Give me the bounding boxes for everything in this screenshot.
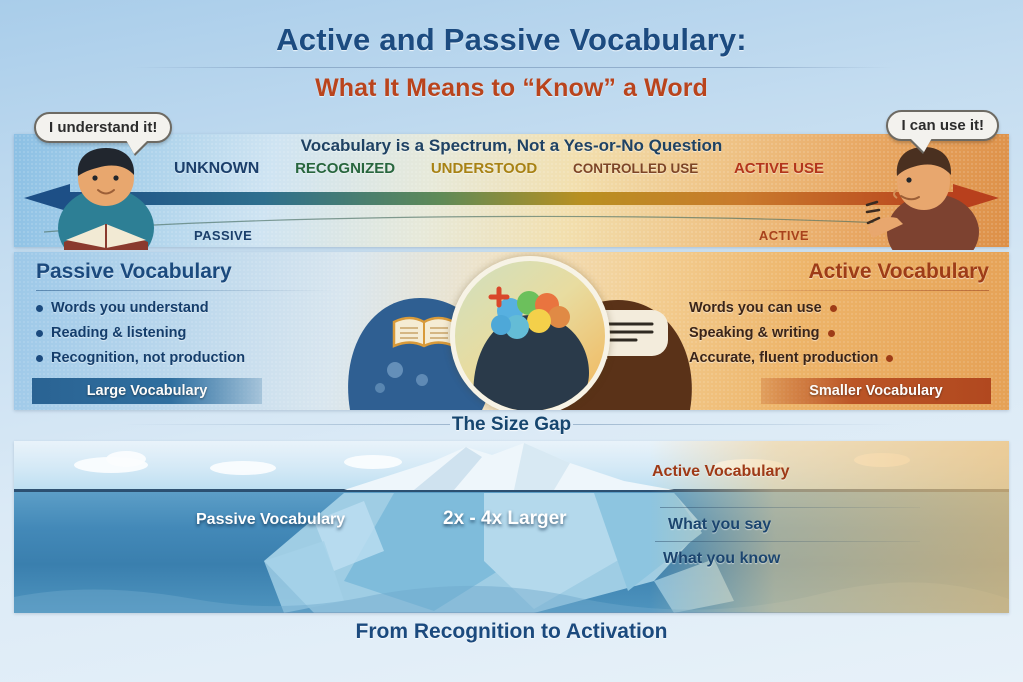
page-title: Active and Passive Vocabulary:	[0, 22, 1023, 58]
head-illustrations	[340, 252, 700, 410]
infographic-poster: Active and Passive Vocabulary: What It M…	[0, 0, 1023, 682]
passive-bullet-2: Reading & listening	[36, 325, 336, 341]
bullet-dot-icon	[36, 305, 43, 312]
bullet-dot-icon	[36, 330, 43, 337]
bullet-text: Speaking & writing	[689, 325, 820, 341]
bullet-text: Words you understand	[51, 300, 209, 316]
page-subtitle: What It Means to “Know” a Word	[0, 74, 1023, 103]
spectrum-stage-unknown: UNKNOWN	[174, 160, 259, 178]
bullet-text: Accurate, fluent production	[689, 350, 878, 366]
active-bullet-3: Accurate, fluent production	[689, 350, 989, 366]
comparison-band: Passive Vocabulary Words you understand …	[14, 252, 1009, 410]
spectrum-axis-label-passive: PASSIVE	[194, 228, 252, 243]
iceberg-label-ratio: 2x - 4x Larger	[443, 508, 567, 530]
size-gap-caption: The Size Gap	[0, 414, 1023, 436]
speech-bubble-left: I understand it!	[34, 112, 172, 143]
iceberg-label-line-say	[660, 507, 920, 508]
bullet-text: Reading & listening	[51, 325, 186, 341]
head-silhouette-with-colorful-brain-icon	[450, 256, 610, 410]
bullet-text: Recognition, not production	[51, 350, 245, 366]
spectrum-stage-understood: UNDERSTOOD	[431, 160, 537, 177]
spectrum-stage-recognized: RECOGNIZED	[295, 160, 395, 177]
bullet-text: Words you can use	[689, 300, 822, 316]
active-panel-heading: Active Vocabulary	[689, 260, 989, 284]
footer-divider	[90, 612, 933, 613]
iceberg-label-active-vocabulary: Active Vocabulary	[652, 463, 790, 481]
title-divider	[132, 67, 892, 68]
bullet-dot-icon	[886, 355, 893, 362]
active-panel-divider	[689, 290, 989, 291]
bullet-dot-icon	[830, 305, 837, 312]
passive-bullet-3: Recognition, not production	[36, 350, 336, 366]
spectrum-curve	[44, 212, 979, 234]
iceberg-label-what-you-know: What you know	[663, 550, 780, 568]
passive-panel-divider	[36, 290, 336, 291]
double-headed-arrow-icon	[24, 184, 999, 212]
spectrum-stage-controlled-use: CONTROLLED USE	[573, 161, 698, 176]
passive-ribbon: Large Vocabulary	[32, 378, 262, 404]
spectrum-stage-active-use: ACTIVE USE	[734, 160, 824, 177]
passive-panel-heading: Passive Vocabulary	[36, 260, 336, 284]
active-ribbon: Smaller Vocabulary	[761, 378, 991, 404]
size-gap-label: The Size Gap	[452, 414, 571, 435]
iceberg-label-what-you-say: What you say	[668, 516, 771, 534]
active-bullet-2: Speaking & writing	[689, 325, 989, 341]
size-gap-line-left	[120, 424, 450, 425]
active-bullet-1: Words you can use	[689, 300, 989, 316]
title-block: Active and Passive Vocabulary: What It M…	[0, 22, 1023, 103]
passive-bullet-1: Words you understand	[36, 300, 336, 316]
size-gap-line-right	[573, 424, 903, 425]
passive-vocabulary-panel: Passive Vocabulary Words you understand …	[36, 260, 336, 375]
iceberg-label-passive-vocabulary: Passive Vocabulary	[196, 511, 345, 529]
arrow-shaft	[68, 192, 955, 205]
speech-bubble-right: I can use it!	[886, 110, 999, 141]
active-vocabulary-panel: Active Vocabulary Words you can use Spea…	[689, 260, 989, 375]
bullet-dot-icon	[36, 355, 43, 362]
footer-caption: From Recognition to Activation	[0, 620, 1023, 644]
spectrum-stage-list: UNKNOWN RECOGNIZED UNDERSTOOD CONTROLLED…	[174, 160, 824, 178]
bullet-dot-icon	[828, 330, 835, 337]
iceberg-label-line-know	[655, 541, 920, 542]
spectrum-axis-label-active: ACTIVE	[759, 228, 809, 243]
